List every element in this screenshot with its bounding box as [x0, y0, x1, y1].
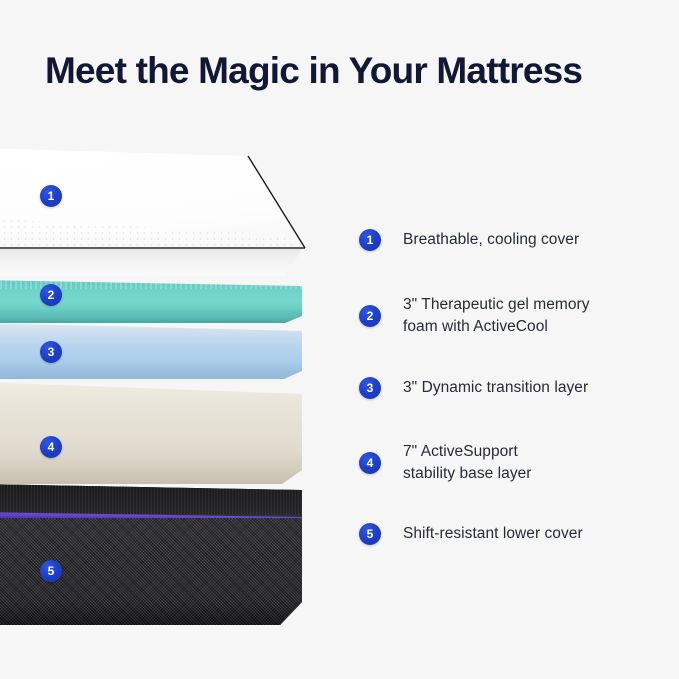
legend-label-1: Breathable, cooling cover	[403, 229, 579, 251]
legend-badge-3: 3	[359, 377, 381, 399]
page-title: Meet the Magic in Your Mattress	[45, 50, 665, 93]
legend-item-2[interactable]: 2 3" Therapeutic gel memory foam with Ac…	[359, 294, 590, 338]
mattress-badge-4[interactable]: 4	[40, 436, 62, 458]
mattress-layer-shift-resistant-lower-cover	[0, 484, 304, 625]
legend-item-4[interactable]: 4 7" ActiveSupport stability base layer	[359, 441, 532, 485]
legend-item-3[interactable]: 3 3" Dynamic transition layer	[359, 377, 588, 399]
cover-perforation-texture	[0, 218, 305, 248]
mattress-badge-3[interactable]: 3	[40, 341, 62, 363]
mattress-badge-5[interactable]: 5	[40, 560, 62, 582]
legend-label-4: 7" ActiveSupport stability base layer	[403, 441, 532, 485]
mattress-layer-activesupport-base	[0, 382, 304, 484]
mattress-badge-2[interactable]: 2	[40, 284, 62, 306]
infographic-page: Meet the Magic in Your Mattress	[0, 0, 679, 679]
mattress-badge-1[interactable]: 1	[40, 185, 62, 207]
legend-badge-2: 2	[359, 305, 381, 327]
legend-badge-5: 5	[359, 523, 381, 545]
legend-label-2: 3" Therapeutic gel memory foam with Acti…	[403, 294, 590, 338]
lower-cover-shading	[0, 601, 304, 625]
legend-item-1[interactable]: 1 Breathable, cooling cover	[359, 229, 579, 251]
legend-label-5: Shift-resistant lower cover	[403, 523, 583, 545]
mattress-cover-side-panel	[0, 249, 304, 276]
legend-item-5[interactable]: 5 Shift-resistant lower cover	[359, 523, 583, 545]
gel-layer-shading	[0, 307, 304, 323]
lower-cover-top-band	[0, 484, 304, 514]
legend-label-3: 3" Dynamic transition layer	[403, 377, 588, 399]
legend-badge-4: 4	[359, 452, 381, 474]
legend-badge-1: 1	[359, 229, 381, 251]
